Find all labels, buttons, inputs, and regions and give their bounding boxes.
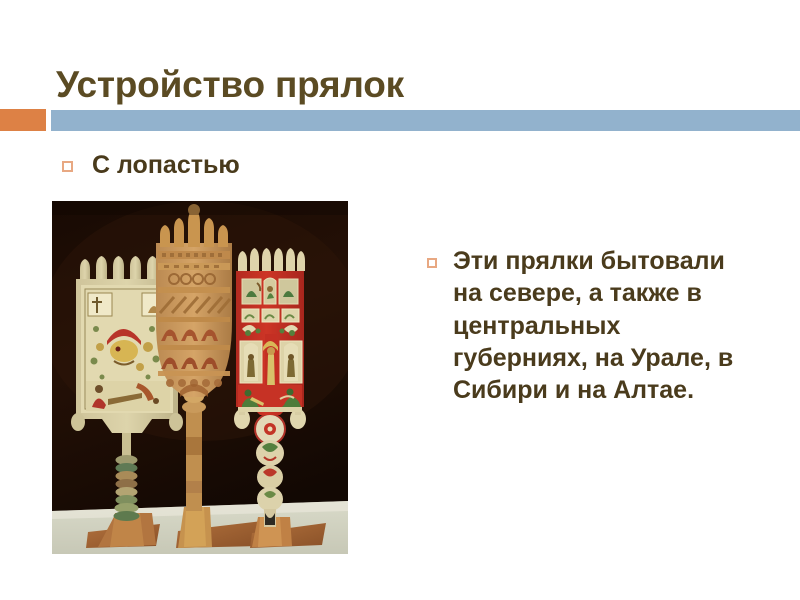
bullet-right-paragraph: Эти прялки бытовали на севере, а также в… xyxy=(453,245,757,406)
bullet-left-label: С лопастью xyxy=(92,150,240,181)
distaff-photo-illustration xyxy=(52,201,348,554)
divider-blue-bar xyxy=(51,110,800,131)
open-square-bullet-icon xyxy=(62,161,73,172)
bullet-item-left: С лопастью xyxy=(62,150,402,181)
distaff-photo xyxy=(52,201,348,554)
open-square-bullet-icon xyxy=(427,258,437,268)
divider-orange-block xyxy=(0,109,46,131)
title-divider xyxy=(0,109,800,131)
page-title: Устройство прялок xyxy=(56,63,756,107)
slide: Устройство прялок С лопастью Эти прялки … xyxy=(0,0,800,600)
bullet-item-right: Эти прялки бытовали на севере, а также в… xyxy=(427,245,757,406)
